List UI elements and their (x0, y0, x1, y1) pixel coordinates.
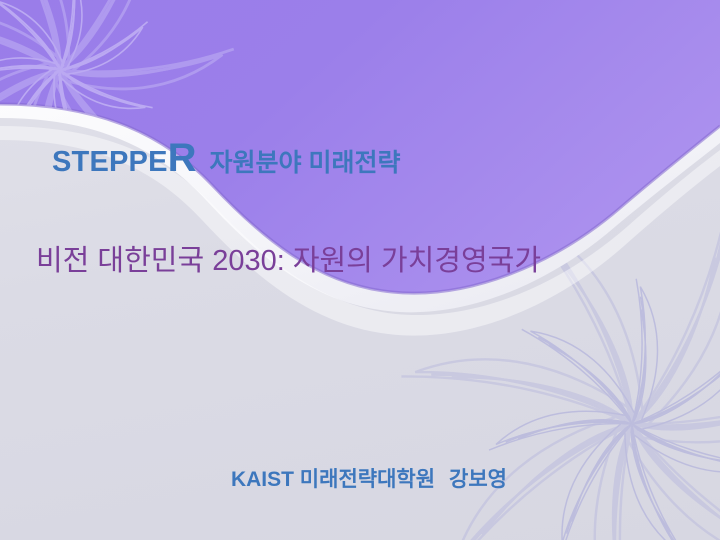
footer-organization: KAIST 미래전략대학원 (231, 468, 435, 491)
slide-footer: KAIST 미래전략대학원강보영 (0, 467, 720, 492)
footer-content: KAIST 미래전략대학원강보영 (213, 467, 507, 492)
presentation-title-slide: STEPPER자원분야 미래전략 비전 대한민국 2030: 자원의 가치경영국… (0, 0, 720, 540)
slide-subtitle: 비전 대한민국 2030: 자원의 가치경영국가 (36, 244, 541, 279)
slide-title: STEPPER자원분야 미래전략 (52, 138, 400, 178)
title-korean-text: 자원분야 미래전략 (210, 149, 401, 177)
title-brand-main: STEPPE (52, 146, 168, 178)
footer-author: 강보영 (449, 468, 507, 491)
title-brand-accent: R (168, 136, 197, 180)
